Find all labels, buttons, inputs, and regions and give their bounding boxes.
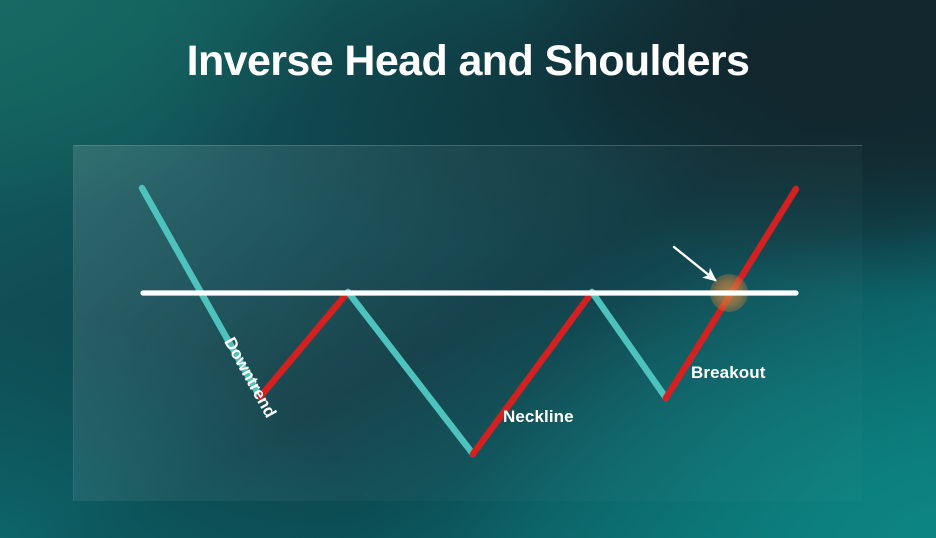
breakout-arrow-icon bbox=[674, 247, 715, 280]
segment-right-shoulder-decline bbox=[592, 292, 666, 398]
page-title: Inverse Head and Shoulders bbox=[0, 40, 936, 83]
chart-panel: Downtrend Neckline Left Shoulder Head Ri… bbox=[73, 145, 862, 501]
label-breakout: Breakout bbox=[691, 363, 766, 383]
pattern-chart bbox=[74, 146, 862, 501]
segment-left-shoulder-rebound bbox=[260, 292, 348, 397]
slide-canvas: Inverse Head and Shoulders bbox=[0, 0, 936, 538]
label-neckline: Neckline bbox=[503, 407, 574, 427]
segment-head-rebound bbox=[473, 292, 592, 454]
segment-head-decline bbox=[348, 292, 473, 454]
